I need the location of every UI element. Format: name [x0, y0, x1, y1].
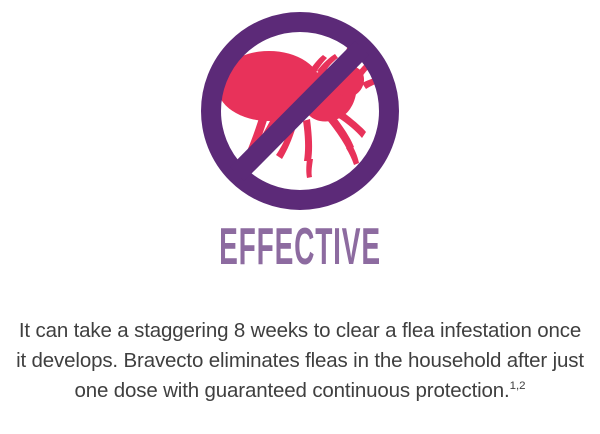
page-title: EFFECTIVE: [138, 218, 462, 276]
effective-promo-panel: EFFECTIVE It can take a staggering 8 wee…: [0, 0, 600, 434]
no-flea-icon: [194, 11, 406, 211]
footnote-marker: 1,2: [510, 380, 526, 392]
body-copy: It can take a staggering 8 weeks to clea…: [14, 316, 586, 406]
body-copy-text: It can take a staggering 8 weeks to clea…: [16, 319, 584, 402]
icon-block: [0, 8, 600, 213]
